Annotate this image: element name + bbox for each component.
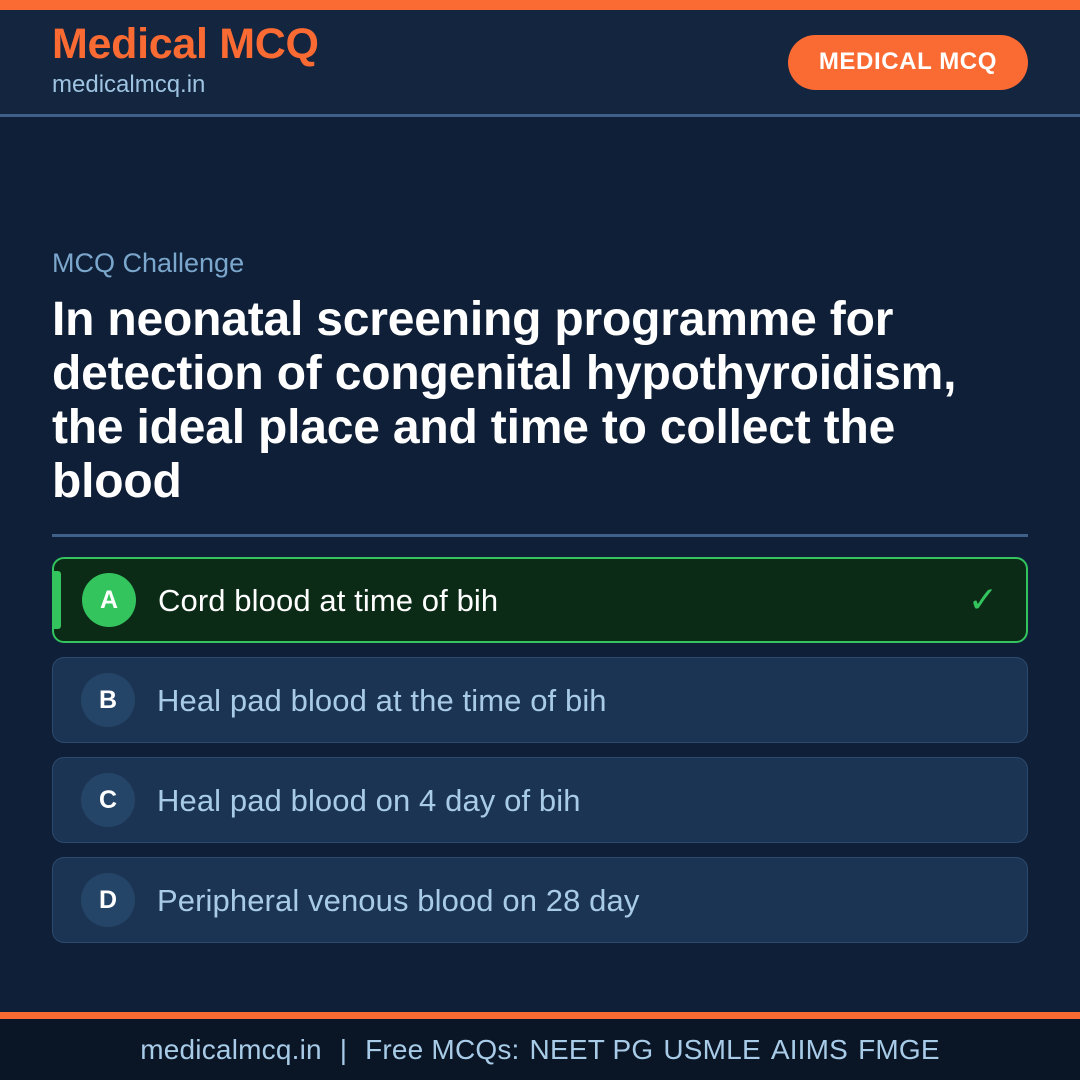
option-c[interactable]: C Heal pad blood on 4 day of bih ✓	[52, 757, 1028, 843]
option-d-text: Peripheral venous blood on 28 day	[157, 882, 953, 919]
footer-exam-usmle: USMLE	[653, 1034, 760, 1066]
correct-accent-bar	[54, 571, 61, 629]
footer-site[interactable]: medicalmcq.in	[140, 1034, 322, 1066]
option-b-text: Heal pad blood at the time of bih	[157, 682, 953, 719]
question-text: In neonatal screening programme for dete…	[52, 293, 1028, 508]
footer-exam-fmge: FMGE	[848, 1034, 940, 1066]
question-divider	[52, 534, 1028, 537]
option-a-letter: A	[82, 573, 136, 627]
footer-accent-bar	[0, 1012, 1080, 1019]
page-footer: medicalmcq.in | Free MCQs: NEET PG USMLE…	[0, 1019, 1080, 1080]
footer-tagline: Free MCQs:	[365, 1034, 519, 1066]
option-a-text: Cord blood at time of bih	[158, 582, 952, 619]
brand-block: Medical MCQ medicalmcq.in	[52, 23, 319, 101]
options-list: A Cord blood at time of bih ✓ B Heal pad…	[52, 557, 1028, 943]
footer-separator: |	[322, 1034, 365, 1066]
option-d-letter: D	[81, 873, 135, 927]
option-c-letter: C	[81, 773, 135, 827]
eyebrow-label: MCQ Challenge	[52, 247, 1028, 279]
check-icon: ✓	[968, 582, 998, 618]
page-header: Medical MCQ medicalmcq.in MEDICAL MCQ	[0, 10, 1080, 117]
option-c-text: Heal pad blood on 4 day of bih	[157, 782, 953, 819]
mcq-card: Medical MCQ medicalmcq.in MEDICAL MCQ MC…	[0, 0, 1080, 1080]
brand-subtitle: medicalmcq.in	[52, 69, 319, 101]
main-content: MCQ Challenge In neonatal screening prog…	[0, 117, 1080, 1012]
option-a[interactable]: A Cord blood at time of bih ✓	[52, 557, 1028, 643]
option-b[interactable]: B Heal pad blood at the time of bih ✓	[52, 657, 1028, 743]
option-d[interactable]: D Peripheral venous blood on 28 day ✓	[52, 857, 1028, 943]
top-accent-bar	[0, 0, 1080, 10]
brand-title: Medical MCQ	[52, 23, 319, 67]
footer-exam-neet-pg: NEET PG	[520, 1034, 654, 1066]
footer-exam-aiims: AIIMS	[761, 1034, 848, 1066]
option-b-letter: B	[81, 673, 135, 727]
header-badge: MEDICAL MCQ	[788, 35, 1028, 90]
